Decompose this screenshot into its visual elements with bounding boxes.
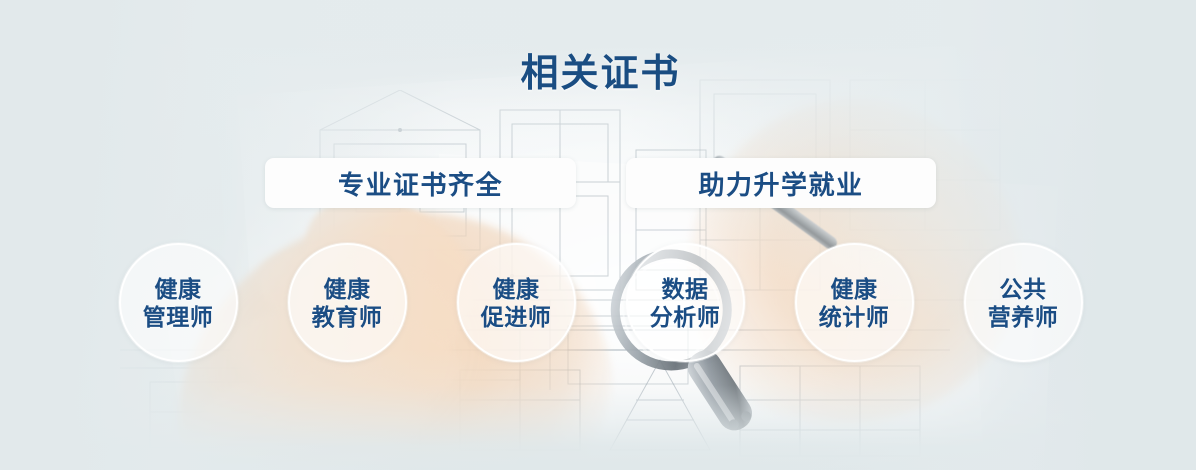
certificates-banner: 相关证书 专业证书齐全 助力升学就业 健康 管理师 健康 教育师 健康 促进师 [0, 0, 1201, 470]
feature-pill-2-label: 助力升学就业 [698, 165, 863, 202]
badge-label-line2: 营养师 [988, 303, 1059, 331]
banner-content: 相关证书 专业证书齐全 助力升学就业 健康 管理师 健康 教育师 健康 促进师 [0, 0, 1201, 470]
badge-label-line1: 健康 [493, 275, 540, 303]
badge-label-line1: 公共 [1000, 275, 1047, 303]
badge-label-line2: 管理师 [143, 303, 214, 331]
feature-pill-group: 专业证书齐全 助力升学就业 [0, 158, 1201, 208]
badge-label-line2: 分析师 [650, 303, 721, 331]
page-title: 相关证书 [0, 52, 1201, 96]
certificate-badge-health-manager[interactable]: 健康 管理师 [119, 243, 238, 362]
badge-label-line1: 健康 [155, 275, 202, 303]
badge-label-line1: 健康 [831, 275, 878, 303]
feature-pill-1[interactable]: 专业证书齐全 [265, 158, 576, 208]
certificate-badge-health-educator[interactable]: 健康 教育师 [288, 243, 407, 362]
certificate-badge-health-promoter[interactable]: 健康 促进师 [457, 243, 576, 362]
certificate-badge-public-nutritionist[interactable]: 公共 营养师 [964, 243, 1083, 362]
badge-label-line2: 教育师 [312, 303, 383, 331]
badge-label-line1: 数据 [662, 275, 709, 303]
badge-label-line2: 促进师 [481, 303, 552, 331]
certificate-badge-group: 健康 管理师 健康 教育师 健康 促进师 数据 分析师 健康 统计师 公共 [0, 243, 1201, 362]
badge-label-line1: 健康 [324, 275, 371, 303]
badge-label-line2: 统计师 [819, 303, 890, 331]
certificate-badge-health-statistician[interactable]: 健康 统计师 [795, 243, 914, 362]
certificate-badge-data-analyst[interactable]: 数据 分析师 [626, 243, 745, 362]
feature-pill-2[interactable]: 助力升学就业 [626, 158, 936, 208]
feature-pill-1-label: 专业证书齐全 [338, 165, 503, 202]
